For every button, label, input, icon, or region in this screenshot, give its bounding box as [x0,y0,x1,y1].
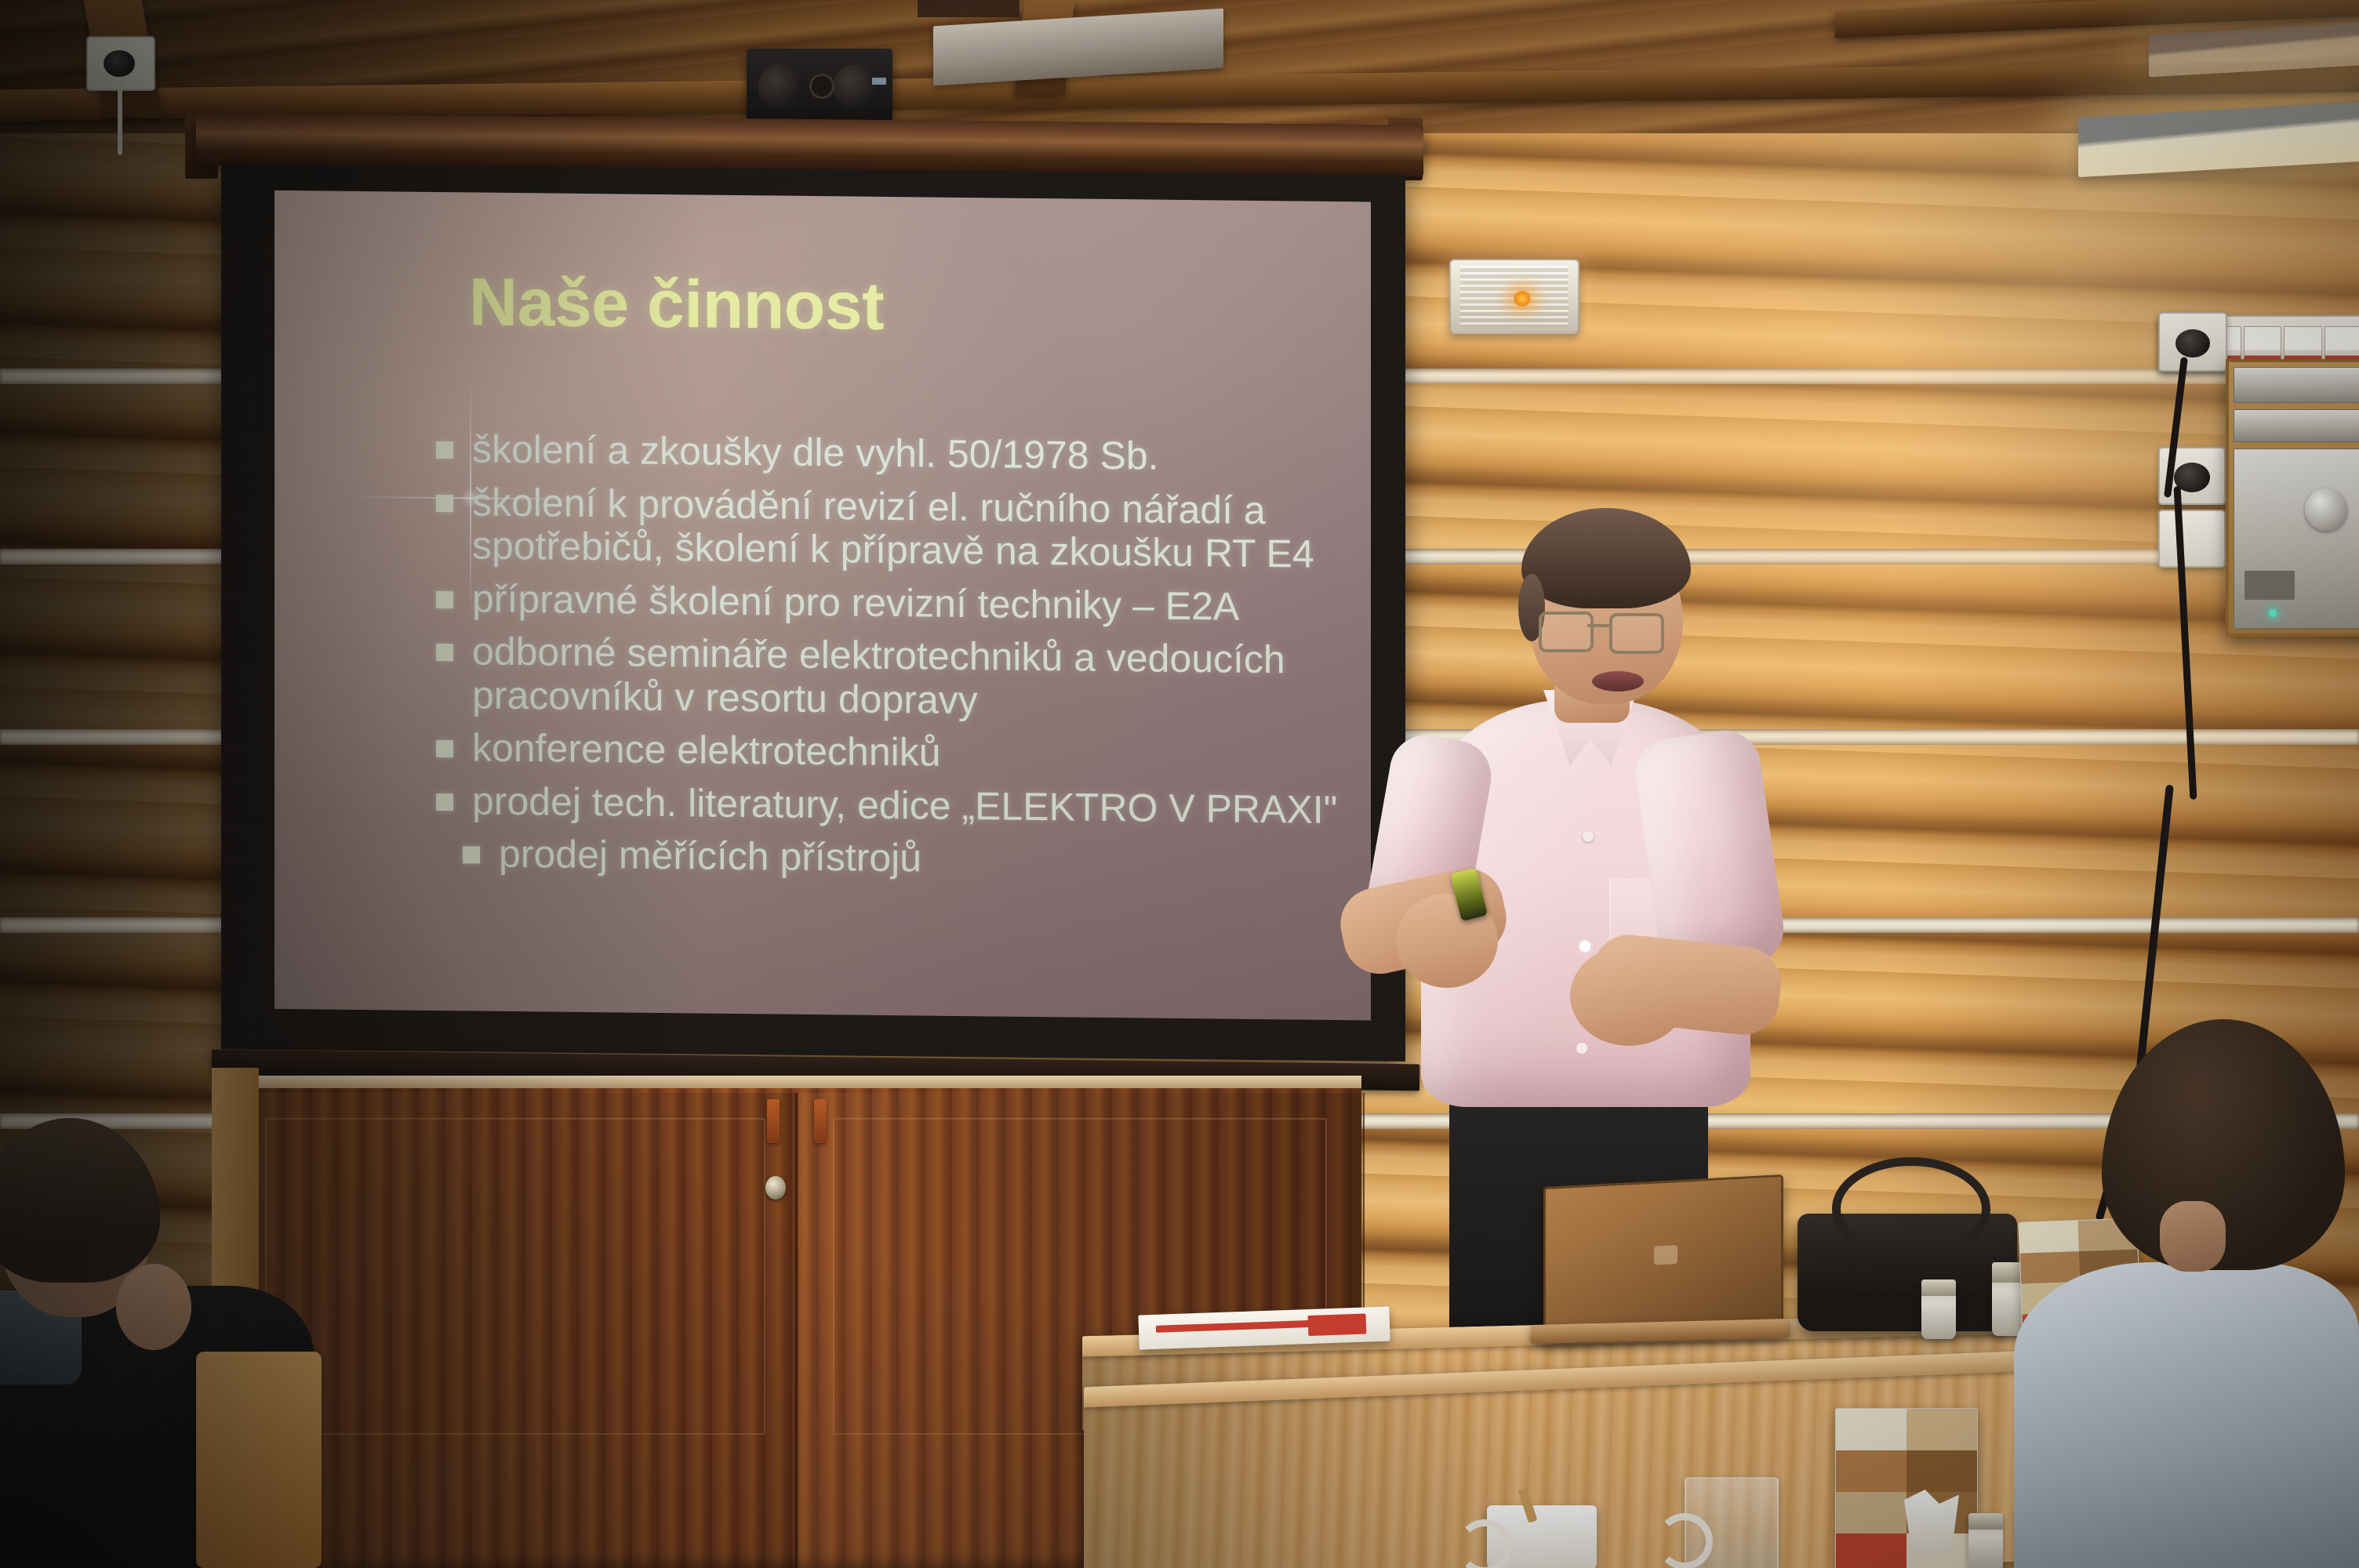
bag-handle [1832,1157,1990,1261]
ceiling-fixture-shadow [918,0,1020,17]
slide-bullet-5: konference elektrotechniků [436,726,1346,779]
mug-handle [1457,1519,1512,1568]
table-menu-card[interactable] [1835,1408,1978,1568]
slide-content: Naše činnost školení a zkoušky dle vyhl.… [274,191,1371,1021]
bullet-square-icon [436,590,453,608]
av-unit-cd-player[interactable] [2234,367,2359,403]
audience-left-hair [0,1118,160,1283]
slide-bullet-3: přípravné školení pro revizní techniky –… [436,576,1346,630]
audience-right-shirt [2014,1262,2359,1568]
laptop-lid[interactable] [1543,1174,1783,1341]
eyeglasses-icon [1534,612,1683,651]
slide-bullet-text: prodej tech. literatury, edice „ELEKTRO … [472,779,1346,832]
av-rack-icon[interactable] [2226,359,2359,637]
slide-bullet-6: prodej tech. literatury, edice „ELEKTRO … [436,779,1346,832]
wooden-chair [196,1352,322,1568]
slide-bullet-text: odborné semináře elektrotechniků a vedou… [472,630,1346,726]
slide-bullet-7: prodej měřících přístrojů [463,832,1346,884]
presenter-right-hand [1570,946,1688,1046]
audience-right-ear [2160,1201,2226,1272]
ceiling-speaker-icon [747,49,892,121]
slide-bullet-2: školení k provádění revizí el. ručního n… [436,480,1346,576]
glass-handle [1656,1513,1713,1568]
emergency-light-icon [1449,259,1579,334]
condiment-shaker[interactable] [1921,1279,1956,1339]
slide-bullet-text: přípravné školení pro revizní techniky –… [472,577,1346,630]
power-led-icon [2269,609,2277,617]
projection-screen-frame: Naše činnost školení a zkoušky dle vyhl.… [221,163,1405,1062]
power-socket-icon [86,36,155,91]
slide-bullet-text: konference elektrotechniků [472,726,1346,779]
shirt-button [1579,941,1590,952]
bullet-square-icon [436,740,453,757]
volume-knob[interactable] [2305,488,2347,531]
shirt-button [1576,1043,1587,1054]
napkin-holder [1904,1490,1959,1554]
slide-bullet-text: školení a zkoušky dle vyhl. 50/1978 Sb. [472,427,1346,480]
presenter-mouth [1592,671,1644,691]
av-slot [2245,571,2295,599]
slide-bullet-text: školení k provádění revizí el. ručního n… [472,481,1346,577]
presenter-hair [1521,508,1691,608]
slide-bullet-text: prodej měřících přístrojů [499,833,1346,885]
audience-left-hand [116,1264,191,1350]
shirt-button [1583,831,1594,842]
presentation-room-photo: Naše činnost školení a zkoušky dle vyhl.… [0,0,2359,1568]
bullet-square-icon [436,644,453,661]
cabinet-top-trim [232,1076,1361,1088]
av-unit-amplifier[interactable] [2234,448,2359,629]
cabinet-handle[interactable] [814,1099,827,1143]
audience-member-right [2014,1019,2359,1568]
av-unit-tape-deck[interactable] [2234,409,2359,442]
laptop-logo-icon [1654,1245,1677,1265]
projection-screen-surface[interactable]: Naše činnost školení a zkoušky dle vyhl.… [274,191,1371,1021]
condiment-shaker[interactable] [1968,1513,2003,1568]
slide-title: Naše činnost [469,267,884,342]
bullet-square-icon [436,494,453,511]
slide-bullet-4: odborné semináře elektrotechniků a vedou… [436,630,1346,726]
socket-cable [118,85,122,155]
cabinet-handle[interactable] [767,1099,780,1143]
slide-bullet-1: školení a zkoušky dle vyhl. 50/1978 Sb. [436,427,1346,481]
bullet-square-icon [436,793,453,810]
power-socket-icon[interactable] [2158,510,2226,568]
power-socket-icon[interactable] [2158,312,2227,372]
cabinet-lock-icon[interactable] [765,1176,786,1200]
bullet-square-icon [436,441,453,459]
bullet-square-icon [463,846,480,863]
